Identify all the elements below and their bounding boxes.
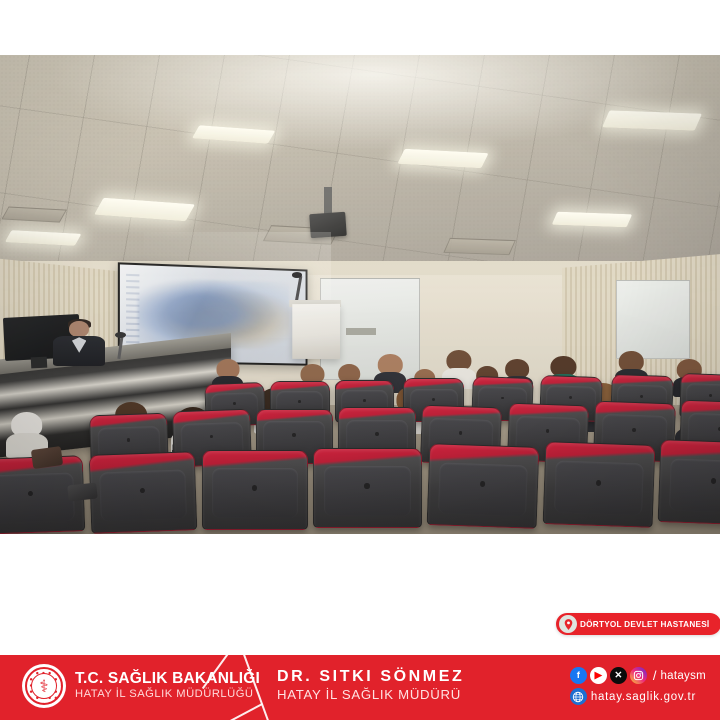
seat-pad xyxy=(669,458,720,513)
seat-bolt xyxy=(233,402,236,405)
globe-icon xyxy=(570,688,587,705)
ceiling xyxy=(0,55,720,275)
auditorium-seat xyxy=(202,450,308,530)
instagram-icon[interactable] xyxy=(630,667,647,684)
seated-speaker xyxy=(53,321,105,367)
location-badge: DÖRTYOL DEVLET HASTANESİ xyxy=(556,613,720,635)
official-name: DR. SITKI SÖNMEZ xyxy=(277,668,464,687)
website-url[interactable]: hatay.saglik.gov.tr xyxy=(591,691,696,703)
caduceus-icon: ⚕ xyxy=(39,678,48,695)
ceiling-projector xyxy=(309,212,347,238)
ministry-text-block: T.C. SAĞLIK BAKANLIĞI HATAY İL SAĞLIK MÜ… xyxy=(75,670,260,702)
x-twitter-icon[interactable]: ✕ xyxy=(610,667,627,684)
seat-bolt xyxy=(640,395,643,398)
speaker-head xyxy=(69,321,89,337)
seat-bolt xyxy=(363,399,366,402)
ceiling-glow xyxy=(27,55,692,156)
youtube-icon[interactable]: ▶ xyxy=(590,667,607,684)
seat-bolt xyxy=(500,396,503,399)
social-separator: / xyxy=(653,668,657,683)
desk-monitor-stand xyxy=(31,356,47,368)
seat-armrest xyxy=(68,482,98,501)
event-photo xyxy=(0,55,720,534)
official-block: DR. SITKI SÖNMEZ HATAY İL SAĞLIK MÜDÜRÜ xyxy=(277,668,464,703)
seat-pad xyxy=(438,463,528,518)
seat-bolt xyxy=(292,433,296,437)
seat-pad xyxy=(324,466,411,516)
ceiling-air-vent xyxy=(444,238,517,256)
location-badge-label: DÖRTYOL DEVLET HASTANESİ xyxy=(580,620,709,629)
social-icons-row: f ▶ ✕ / hataysm xyxy=(570,667,706,684)
auditorium-seat xyxy=(657,439,720,526)
auditorium-seat xyxy=(542,441,655,528)
seat-pad xyxy=(553,460,643,515)
facebook-icon[interactable]: f xyxy=(570,667,587,684)
location-pin-icon xyxy=(559,615,577,633)
glass-partition-door xyxy=(616,280,690,359)
seat-bolt xyxy=(711,477,717,483)
seat-pad xyxy=(0,473,75,523)
ceiling-light-panel xyxy=(552,212,632,228)
seat-bolt xyxy=(375,432,379,436)
seat-bolt xyxy=(432,398,435,401)
lectern xyxy=(292,304,339,359)
auditorium-seat xyxy=(313,448,422,529)
desk-microphone xyxy=(115,332,126,338)
seat-bolt xyxy=(252,485,257,490)
seat-pad xyxy=(212,468,298,518)
seat-pad xyxy=(100,469,187,521)
seat-bolt xyxy=(545,429,549,433)
social-block: f ▶ ✕ / hataysm xyxy=(570,667,706,705)
official-title: HATAY İL SAĞLIK MÜDÜRÜ xyxy=(277,687,464,704)
seat-bolt xyxy=(298,400,301,403)
ministry-of-health-seal-icon: ⚕ xyxy=(22,664,66,708)
ministry-directorate: HATAY İL SAĞLIK MÜDÜRLÜĞÜ xyxy=(75,687,260,702)
conference-hall-scene xyxy=(0,55,720,534)
ministry-branding: ⚕ T.C. SAĞLIK BAKANLIĞI HATAY İL SAĞLIK … xyxy=(22,664,260,708)
seat-bolt xyxy=(364,483,369,488)
social-handle[interactable]: hataysm xyxy=(660,670,706,682)
door-handle xyxy=(346,328,376,335)
ministry-name: T.C. SAĞLIK BAKANLIĞI xyxy=(75,670,260,687)
website-row[interactable]: hatay.saglik.gov.tr xyxy=(570,688,696,705)
seal-inner-disc: ⚕ xyxy=(31,673,57,699)
footer-bar: ⚕ T.C. SAĞLIK BAKANLIĞI HATAY İL SAĞLIK … xyxy=(0,655,720,720)
auditorium-seat xyxy=(89,451,198,533)
auditorium-seat xyxy=(427,443,540,529)
lectern-microphone xyxy=(292,272,302,277)
seat-bolt xyxy=(595,480,601,486)
